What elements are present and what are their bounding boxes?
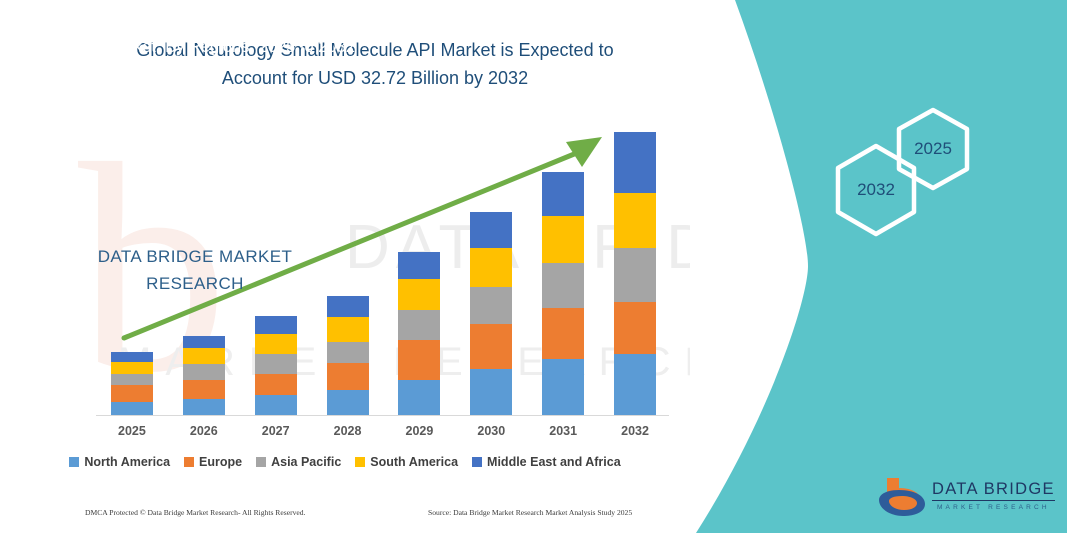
logo-primary-text: DATA BRIDGE <box>932 480 1055 501</box>
x-axis-label-2032: 2032 <box>600 424 670 438</box>
legend-item-asia-pacific[interactable]: Asia Pacific <box>256 455 341 469</box>
hex-2032-text: 2032 <box>833 143 919 237</box>
footer-copyright: DMCA Protected © Data Bridge Market Rese… <box>85 508 305 517</box>
infographic-slide: b DATA BRIDGE MARKET RESEARCH Global Neu… <box>0 0 1067 533</box>
legend-label: Middle East and Africa <box>487 455 621 469</box>
legend-swatch-icon <box>256 457 266 467</box>
legend-item-south-america[interactable]: South America <box>355 455 458 469</box>
x-axis-label-2026: 2026 <box>169 424 239 438</box>
hexagon-end-year-label: 2032 <box>833 143 919 237</box>
legend-label: South America <box>370 455 458 469</box>
x-axis-label-2029: 2029 <box>384 424 454 438</box>
legend-item-middle-east-and-africa[interactable]: Middle East and Africa <box>472 455 621 469</box>
footer: DMCA Protected © Data Bridge Market Rese… <box>0 508 690 524</box>
legend-swatch-icon <box>472 457 482 467</box>
logo-secondary-text: MARKET RESEARCH <box>932 504 1055 511</box>
legend-label: North America <box>84 455 170 469</box>
x-axis-label-2031: 2031 <box>528 424 598 438</box>
x-axis-label-2028: 2028 <box>313 424 383 438</box>
legend-item-north-america[interactable]: North America <box>69 455 170 469</box>
legend-label: Asia Pacific <box>271 455 341 469</box>
chart-legend: North AmericaEuropeAsia PacificSouth Ame… <box>0 455 690 469</box>
legend-swatch-icon <box>184 457 194 467</box>
teal-panel-shape <box>690 0 1067 533</box>
brand-name: DATA BRIDGE MARKET RESEARCH <box>55 243 335 297</box>
logo-wordmark: DATA BRIDGE MARKET RESEARCH <box>932 480 1055 511</box>
legend-label: Europe <box>199 455 242 469</box>
x-axis-labels: 20252026202720282029203020312032 <box>96 424 671 446</box>
x-axis-label-2030: 2030 <box>456 424 526 438</box>
legend-item-europe[interactable]: Europe <box>184 455 242 469</box>
panel-title: Global Neurology Small Molecule API Mark… <box>25 8 355 60</box>
right-teal-panel <box>690 0 1067 533</box>
footer-source: Source: Data Bridge Market Research Mark… <box>428 508 632 517</box>
x-axis-label-2027: 2027 <box>241 424 311 438</box>
legend-swatch-icon <box>355 457 365 467</box>
legend-swatch-icon <box>69 457 79 467</box>
x-axis-label-2025: 2025 <box>97 424 167 438</box>
